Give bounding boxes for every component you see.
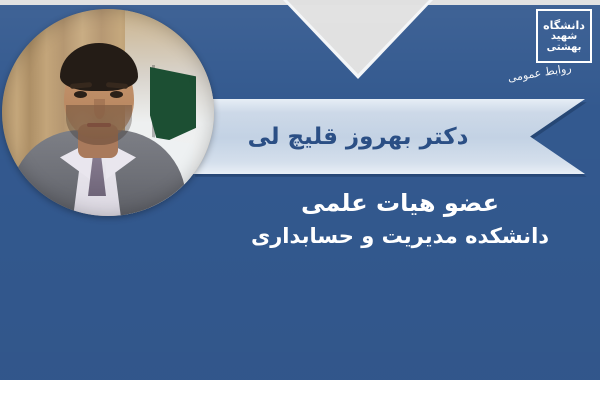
- university-logo-frame-icon: دانشگاه شهید بهشتی: [536, 9, 592, 63]
- person-role: عضو هیات علمی: [220, 186, 580, 220]
- public-relations-script: روابط عمومی: [491, 59, 588, 87]
- portrait-mouth: [87, 123, 111, 127]
- logo-line-2: شهید: [551, 32, 577, 42]
- portrait-photo: [2, 9, 214, 216]
- portrait-eye-left: [74, 91, 87, 98]
- university-logo: دانشگاه شهید بهشتی روابط عمومی: [487, 7, 595, 95]
- portrait-eye-right: [110, 91, 123, 98]
- person-name: دکتر بهروز قلیچ لی: [193, 99, 523, 174]
- portrait-avatar: [2, 9, 214, 216]
- logo-line-3: بهشتی: [547, 43, 582, 53]
- person-details: عضو هیات علمی دانشکده مدیریت و حسابداری: [220, 186, 580, 252]
- name-ribbon: دکتر بهروز قلیچ لی: [193, 99, 585, 174]
- bottom-white-strip: [0, 380, 600, 400]
- portrait-nose: [94, 99, 105, 119]
- logo-line-1: دانشگاه: [543, 20, 585, 31]
- person-department: دانشکده مدیریت و حسابداری: [220, 220, 580, 252]
- faculty-profile-card: دکتر بهروز قلیچ لی: [0, 0, 600, 400]
